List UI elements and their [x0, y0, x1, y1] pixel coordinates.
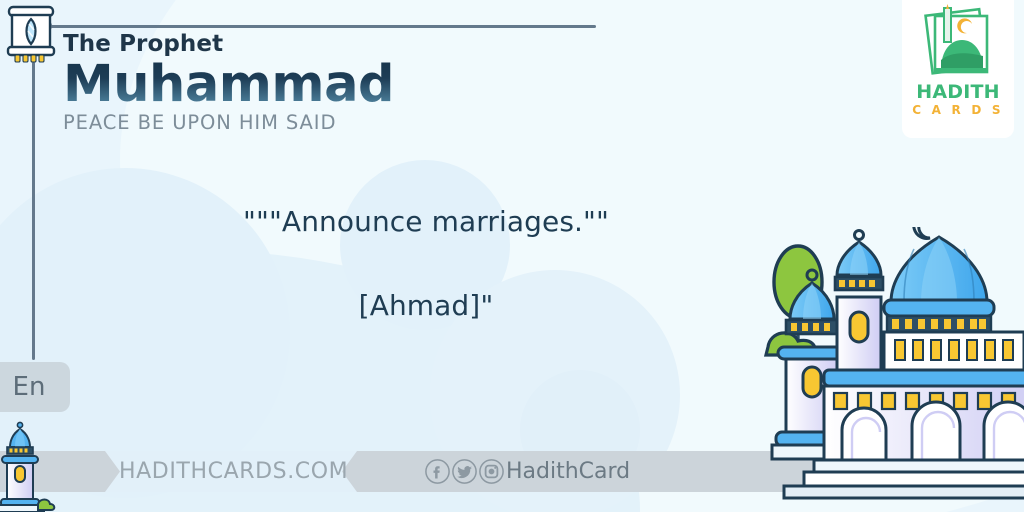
mosque-illustration	[764, 227, 1024, 512]
quote-text: """Announce marriages.""	[96, 200, 756, 244]
minaret-illustration	[0, 420, 62, 512]
rail-vertical-line	[32, 62, 35, 360]
quote-block: """Announce marriages."" [Ahmad]"	[96, 200, 756, 328]
language-badge-label: En	[13, 372, 46, 402]
hadith-card: The Prophet Muhammad PEACE BE UPON HIM S…	[0, 0, 1024, 512]
page-eyebrow: The Prophet	[63, 32, 394, 56]
page-subtitle: PEACE BE UPON HIM SAID	[63, 112, 394, 134]
footer-social-handle[interactable]: HadithCard	[506, 458, 630, 485]
mosque-cards-logo-icon	[919, 4, 997, 80]
footer-social-group: HadithCard	[424, 458, 630, 485]
brand-logo[interactable]: HADITH C A R D S	[902, 0, 1014, 138]
quote-reference: [Ahmad]"	[96, 284, 756, 328]
header-block: The Prophet Muhammad PEACE BE UPON HIM S…	[63, 32, 394, 134]
logo-name-primary: HADITH	[916, 82, 1000, 102]
rail-horizontal-line	[44, 25, 596, 28]
facebook-icon[interactable]	[424, 458, 451, 485]
twitter-icon[interactable]	[451, 458, 478, 485]
lantern-icon	[4, 4, 60, 66]
logo-name-secondary: C A R D S	[912, 103, 1003, 117]
instagram-icon[interactable]	[478, 458, 505, 485]
page-title: Muhammad	[63, 58, 394, 111]
footer-website-link[interactable]: HADITHCARDS.COM	[119, 458, 348, 485]
language-badge[interactable]: En	[0, 362, 70, 412]
